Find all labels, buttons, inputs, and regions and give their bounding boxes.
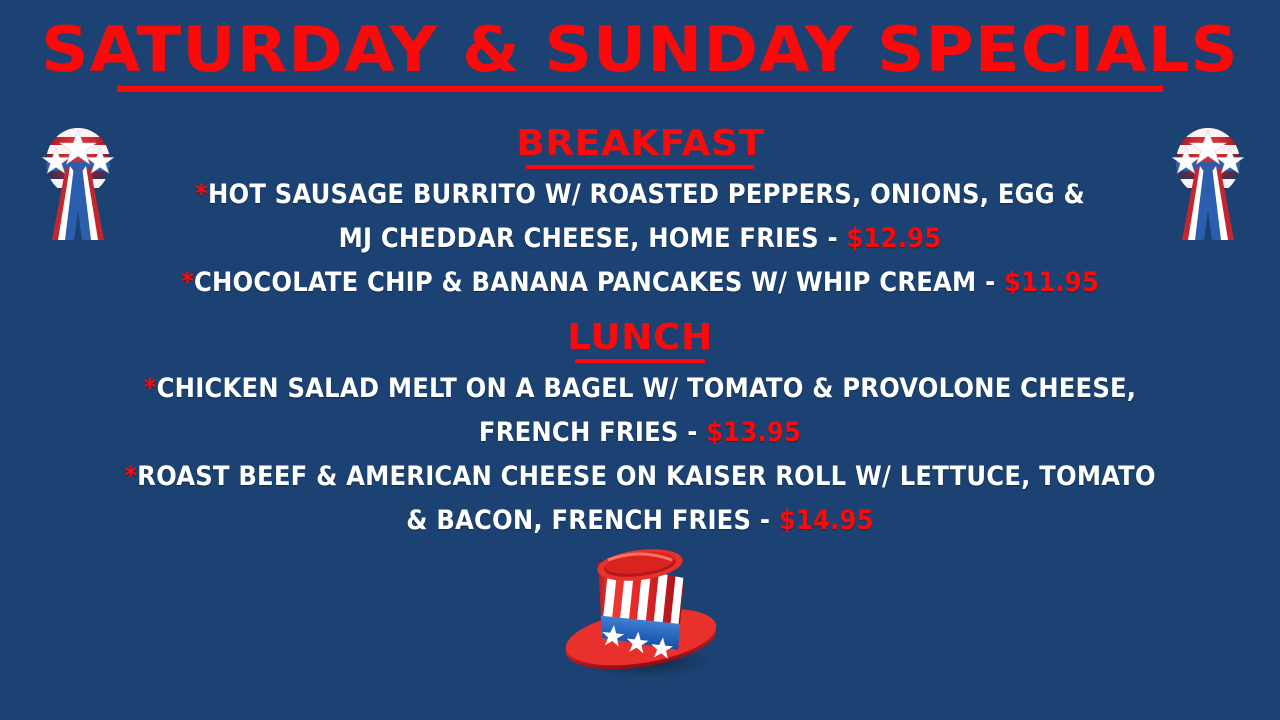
item-text: HOT SAUSAGE BURRITO W/ ROASTED PEPPERS, …: [208, 179, 1085, 210]
specials-poster: SATURDAY & SUNDAY SPECIALS: [0, 0, 1280, 720]
item-price: $13.95: [706, 417, 801, 448]
menu-item-line: MJ CHEDDAR CHEESE, HOME FRIES - $12.95: [0, 217, 1280, 261]
menu-item-line: & BACON, FRENCH FRIES - $14.95: [0, 499, 1280, 543]
item-star-marker: *: [195, 179, 208, 210]
item-star-marker: *: [124, 461, 137, 492]
item-text: & BACON, FRENCH FRIES -: [406, 505, 778, 536]
section-heading-breakfast: BREAKFAST: [0, 125, 1280, 169]
item-price: $12.95: [846, 223, 941, 254]
menu-item-line: *CHICKEN SALAD MELT ON A BAGEL W/ TOMATO…: [0, 367, 1280, 411]
section-heading-label: LUNCH: [567, 319, 713, 357]
menu-item-line: *CHOCOLATE CHIP & BANANA PANCAKES W/ WHI…: [0, 261, 1280, 305]
menu-body: BREAKFAST *HOT SAUSAGE BURRITO W/ ROASTE…: [0, 125, 1280, 543]
menu-item-line: *ROAST BEEF & AMERICAN CHEESE ON KAISER …: [0, 455, 1280, 499]
item-price: $14.95: [779, 505, 874, 536]
section-heading-label: BREAKFAST: [516, 125, 764, 163]
menu-item-line: *HOT SAUSAGE BURRITO W/ ROASTED PEPPERS,…: [0, 173, 1280, 217]
item-text: ROAST BEEF & AMERICAN CHEESE ON KAISER R…: [137, 461, 1156, 492]
item-star-marker: *: [144, 373, 157, 404]
item-text: FRENCH FRIES -: [479, 417, 706, 448]
menu-item-line: FRENCH FRIES - $13.95: [0, 411, 1280, 455]
item-text: CHICKEN SALAD MELT ON A BAGEL W/ TOMATO …: [157, 373, 1137, 404]
section-heading-lunch: LUNCH: [0, 319, 1280, 363]
uncle-sam-hat-icon: [558, 540, 724, 680]
title-underline: [117, 86, 1163, 92]
poster-title-block: SATURDAY & SUNDAY SPECIALS: [0, 18, 1280, 92]
item-star-marker: *: [181, 267, 194, 298]
page-title: SATURDAY & SUNDAY SPECIALS: [41, 18, 1239, 81]
item-text: CHOCOLATE CHIP & BANANA PANCAKES W/ WHIP…: [194, 267, 1004, 298]
item-price: $11.95: [1004, 267, 1099, 298]
item-text: MJ CHEDDAR CHEESE, HOME FRIES -: [339, 223, 847, 254]
